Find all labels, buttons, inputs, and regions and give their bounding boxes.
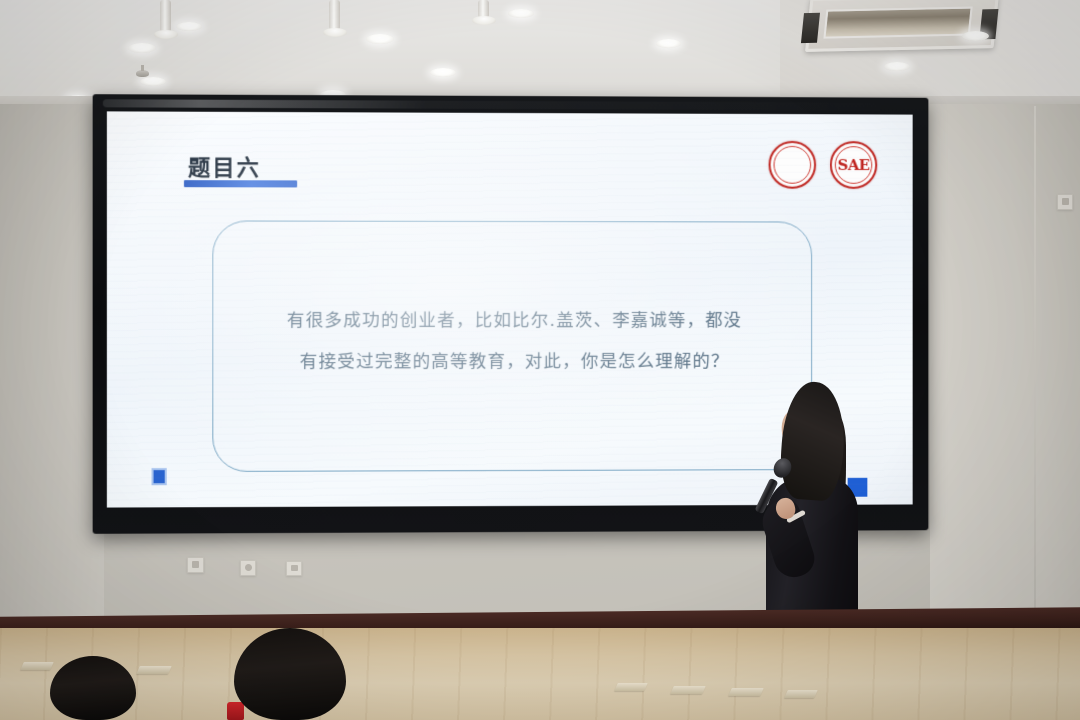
floor-marker	[20, 662, 54, 670]
downlight-icon	[128, 43, 156, 53]
wall-outlet-plate	[240, 560, 256, 576]
downlight-icon	[366, 34, 394, 44]
floor-marker	[614, 683, 648, 691]
floor-marker	[784, 690, 818, 698]
wall-switch-plate	[286, 561, 302, 576]
competition-seal-logo: SAE	[830, 141, 877, 189]
downlight-icon	[176, 22, 202, 31]
slide-title-underline	[184, 180, 297, 187]
downlight-icon	[962, 31, 989, 41]
downlight-icon	[884, 62, 910, 71]
presentation-room-photo: 题目六 SAE 有很多成功的创业者，比如比尔.盖茨、李嘉诚等，都没 有接受过完整…	[0, 0, 1080, 720]
track-spotlight-icon	[329, 0, 340, 30]
downlight-icon	[430, 68, 456, 77]
track-spotlight-icon	[160, 0, 171, 32]
downlight-icon	[656, 39, 681, 48]
wall-panel-seam	[1034, 106, 1036, 626]
left-wall	[0, 104, 104, 636]
downlight-icon	[140, 77, 166, 86]
question-line-1: 有很多成功的创业者，比如比尔.盖茨、李嘉诚等，都没	[287, 311, 742, 331]
floor	[0, 628, 1080, 720]
ac-grille	[823, 7, 972, 39]
question-line-2: 有接受过完整的高等教育，对此，你是怎么理解的？	[226, 342, 801, 384]
university-seal-logo	[769, 141, 816, 189]
wall-switch-plate	[1057, 194, 1073, 210]
red-cup	[227, 702, 244, 720]
track-spotlight-head	[323, 28, 347, 37]
downlight-icon	[508, 9, 534, 18]
smoke-detector-icon	[136, 70, 149, 77]
floor-marker	[670, 686, 706, 694]
air-conditioner-unit	[805, 0, 999, 52]
ac-vent-left	[801, 13, 820, 43]
track-spotlight-head	[472, 16, 496, 25]
floor-marker	[728, 688, 764, 696]
floor-marker	[136, 666, 172, 674]
wall-switch-plate	[187, 557, 204, 573]
track-spotlight-head	[154, 30, 178, 39]
blue-square-accent-left	[152, 468, 167, 485]
slide-logos: SAE	[769, 141, 878, 189]
bezel-highlight	[103, 99, 906, 110]
competition-seal-mark: SAE	[838, 158, 870, 173]
slide-title: 题目六	[188, 150, 261, 182]
question-text: 有很多成功的创业者，比如比尔.盖茨、李嘉诚等，都没 有接受过完整的高等教育，对此…	[226, 301, 801, 383]
right-wall	[930, 104, 1080, 636]
